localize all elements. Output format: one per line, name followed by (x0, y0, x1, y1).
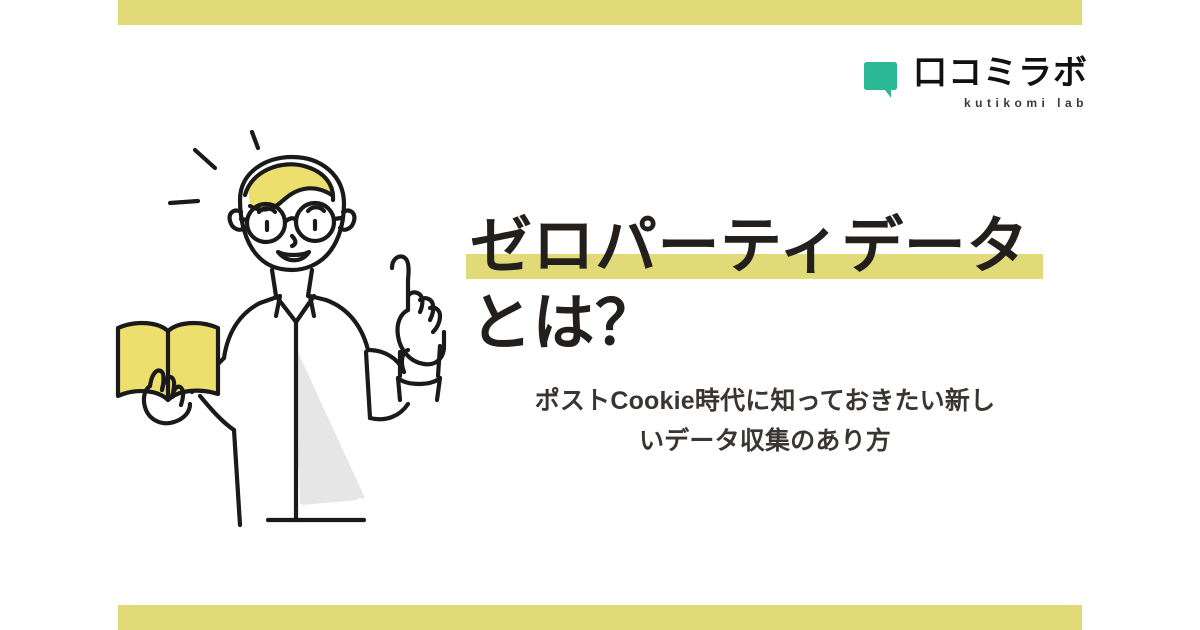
title-line-1: ゼロパーティデータ (470, 212, 1090, 281)
logo-wordmark: 口コミラボ (913, 56, 1088, 92)
sparkle-line-1 (252, 132, 258, 148)
sparkle-line-2 (195, 150, 215, 168)
title-line-1-text: ゼロパーティデータ (470, 212, 1029, 281)
subtitle-line-1: ポストCookie時代に知っておきたい新し (535, 387, 996, 415)
title-line-2: とは？ (470, 289, 1090, 358)
banner-canvas: 口コミラボ kutikomi lab ゼロパーティデータ とは？ ポストCook… (0, 0, 1200, 630)
logo-text-group: 口コミラボ kutikomi lab (913, 56, 1088, 110)
illustration-man-with-book (100, 100, 450, 550)
sparkle-line-3 (170, 201, 198, 203)
site-logo[interactable]: 口コミラボ kutikomi lab (861, 56, 1088, 110)
headline-block: ゼロパーティデータ とは？ ポストCookie時代に知っておきたい新し いデータ… (470, 212, 1090, 461)
speech-bubble-mark-icon (861, 59, 903, 101)
logo-subtext: kutikomi lab (964, 96, 1088, 110)
subtitle: ポストCookie時代に知っておきたい新し いデータ収集のあり方 (470, 381, 1060, 461)
subtitle-line-2: いデータ収集のあり方 (639, 427, 891, 455)
